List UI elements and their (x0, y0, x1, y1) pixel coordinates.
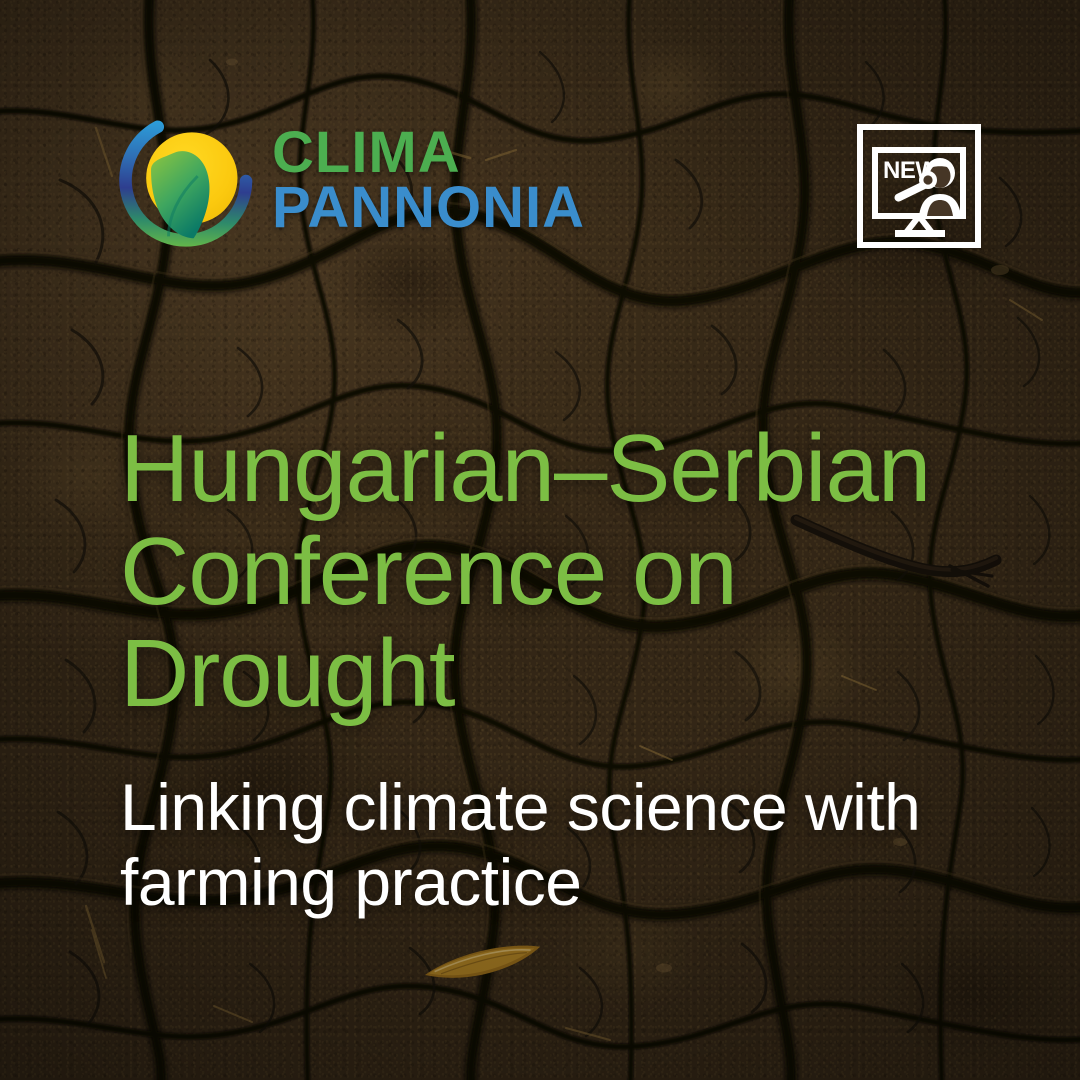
clima-pannonia-logo[interactable]: CLIMA PANNONIA (118, 112, 585, 248)
news-broadcast-icon[interactable]: NEWS (857, 124, 981, 248)
logo-word-pannonia: PANNONIA (272, 181, 585, 234)
headline-line-2: Conference on (120, 518, 737, 625)
poster-canvas: CLIMA PANNONIA NEWS Hungarian–Serbian (0, 0, 1080, 1080)
headline-line-3: Drought (120, 620, 455, 727)
poster-text-block: Hungarian–Serbian Conference on Drought … (120, 418, 1020, 919)
logo-wordmark: CLIMA PANNONIA (272, 126, 585, 235)
page-title: Hungarian–Serbian Conference on Drought (120, 418, 1020, 726)
headline-line-1: Hungarian–Serbian (120, 415, 930, 522)
logo-word-clima: CLIMA (272, 126, 585, 179)
subhead-line-1: Linking climate science with (120, 770, 920, 844)
page-subtitle: Linking climate science with farming pra… (120, 770, 1020, 919)
subhead-line-2: farming practice (120, 845, 582, 919)
clima-pannonia-logo-mark (118, 112, 254, 248)
